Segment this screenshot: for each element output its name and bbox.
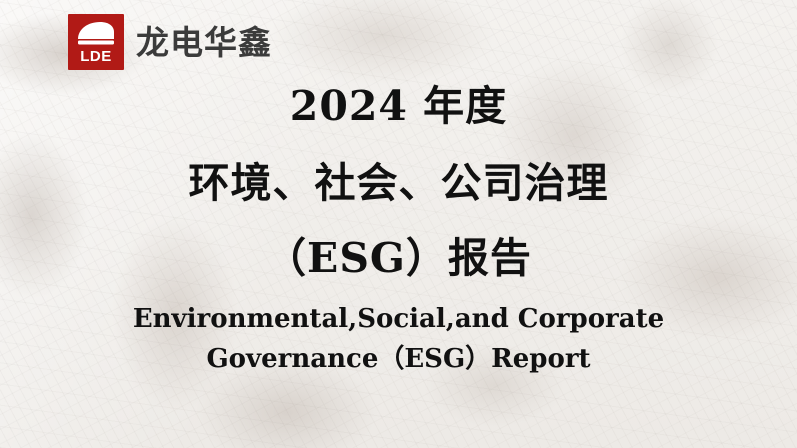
- esg-report-cover: LDE 龙电华鑫 2024 年度 环境、社会、公司治理 （ESG）报告 Envi…: [0, 0, 797, 448]
- title-en-line1: Environmental,Social,and Corporate: [0, 299, 797, 339]
- title-subject-cn: 环境、社会、公司治理: [0, 163, 797, 204]
- cover-title-block: 2024 年度 环境、社会、公司治理 （ESG）报告 Environmental…: [0, 86, 797, 380]
- title-year: 2024 年度: [0, 86, 797, 127]
- logo-mark-text: LDE: [80, 49, 112, 64]
- company-logo: LDE 龙电华鑫: [68, 14, 272, 70]
- iron-icon: [76, 20, 116, 46]
- logo-mark: LDE: [68, 14, 124, 70]
- title-en-line2: Governance（ESG）Report: [0, 339, 797, 379]
- logo-brand-name: 龙电华鑫: [136, 26, 272, 59]
- title-esg-report-cn: （ESG）报告: [0, 238, 797, 279]
